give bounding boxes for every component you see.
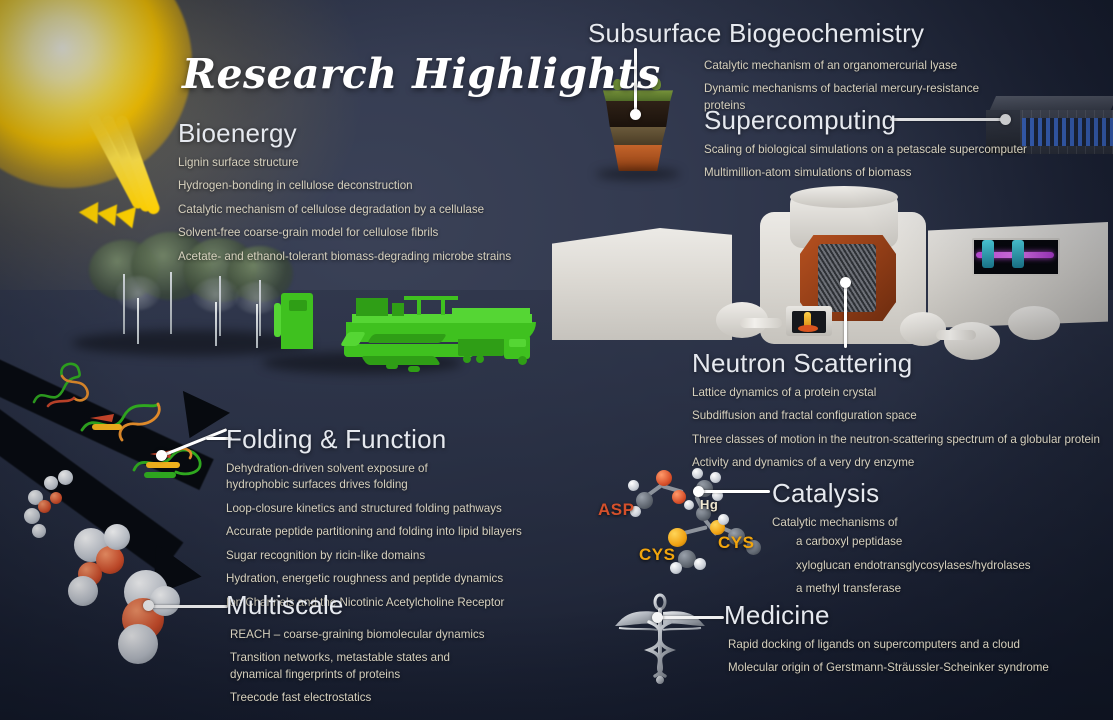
list-item: Lattice dynamics of a protein crystal bbox=[692, 385, 1102, 401]
cg-bead bbox=[58, 470, 73, 485]
hydrogen-atom bbox=[718, 514, 729, 525]
accelerator-magnet bbox=[1012, 240, 1024, 268]
list-item: Subdiffusion and fractal configuration s… bbox=[692, 408, 1102, 424]
connector-dot-multiscale bbox=[143, 600, 154, 611]
connector-catalysis bbox=[698, 490, 770, 493]
list-item: Three classes of motion in the neutron-s… bbox=[692, 432, 1102, 448]
truck-trailer bbox=[458, 338, 504, 356]
connector-multiscale bbox=[148, 605, 228, 608]
facility-pipe bbox=[740, 318, 782, 328]
list-item: Solvent-free coarse-grain model for cell… bbox=[178, 225, 538, 241]
cg-bead bbox=[24, 508, 40, 524]
cg-bead-large bbox=[150, 586, 180, 616]
cg-bead-large bbox=[118, 624, 158, 664]
medicine-list: Rapid docking of ligands on supercompute… bbox=[728, 637, 1054, 677]
gas-pump-display bbox=[289, 300, 307, 311]
connector-dot-medicine bbox=[652, 612, 663, 623]
connector-medicine bbox=[656, 616, 724, 619]
cys-left-label: CYS bbox=[639, 545, 675, 565]
facility-outbuilding bbox=[1008, 306, 1060, 340]
airplane-engine bbox=[386, 363, 398, 369]
list-item: Catalytic mechanism of cellulose degrada… bbox=[178, 202, 538, 218]
cargo-ship-funnel bbox=[392, 303, 404, 316]
connector-dot-catalysis bbox=[693, 486, 704, 497]
section-multiscale: Multiscale REACH – coarse-graining biomo… bbox=[226, 590, 546, 714]
list-item: Treecode fast electrostatics bbox=[230, 690, 546, 706]
protein-ribbon-folded bbox=[128, 440, 206, 490]
list-item: Hydrogen-bonding in cellulose deconstruc… bbox=[178, 178, 538, 194]
sun-icon bbox=[0, 0, 192, 188]
section-supercomputing: Supercomputing Scaling of biological sim… bbox=[704, 105, 1104, 189]
section-heading-multiscale: Multiscale bbox=[226, 590, 546, 621]
airplane-engine bbox=[408, 366, 420, 372]
connector-dot-neutron bbox=[840, 277, 851, 288]
list-item: Accurate peptide partitioning and foldin… bbox=[226, 524, 556, 540]
oxygen-atom bbox=[656, 470, 672, 486]
list-item: REACH – coarse-graining biomolecular dyn… bbox=[230, 627, 546, 643]
list-item: Catalytic mechanism of an organomercuria… bbox=[704, 58, 1008, 74]
section-heading-catalysis: Catalysis bbox=[772, 478, 1072, 509]
cg-bead bbox=[44, 476, 58, 490]
facility-west-hall bbox=[552, 228, 732, 340]
truck-window bbox=[509, 339, 526, 347]
multiscale-list: REACH – coarse-graining biomolecular dyn… bbox=[230, 627, 546, 707]
list-item: Activity and dynamics of a very dry enzy… bbox=[692, 455, 1102, 471]
section-heading-medicine: Medicine bbox=[724, 600, 1054, 631]
list-item: a carboxyl peptidase bbox=[796, 534, 1072, 550]
facility-pipe bbox=[936, 330, 976, 340]
accelerator-magnet bbox=[982, 240, 994, 268]
airplane-wing bbox=[367, 334, 447, 343]
research-highlights-poster: ASP Hg CYS CYS Research Highlights bbox=[0, 0, 1113, 720]
soil-core-shadow bbox=[596, 168, 680, 180]
catalysis-molecule bbox=[600, 466, 770, 576]
tree-bare bbox=[238, 276, 276, 348]
list-item: Rapid docking of ligands on supercompute… bbox=[728, 637, 1054, 653]
connector-neutron bbox=[844, 282, 847, 348]
caduceus-icon bbox=[611, 592, 709, 684]
facility-outbuilding bbox=[900, 312, 946, 346]
tree-bare bbox=[196, 272, 236, 346]
tree-bare bbox=[118, 268, 158, 344]
cys-right-label: CYS bbox=[718, 533, 754, 553]
cg-bead-medium bbox=[104, 524, 130, 550]
cg-bead bbox=[50, 492, 62, 504]
soil-layer-subsoil bbox=[610, 127, 666, 145]
truck-wheel bbox=[518, 356, 527, 365]
section-neutron: Neutron Scattering Lattice dynamics of a… bbox=[692, 348, 1102, 479]
section-heading-subsurface: Subsurface Biogeochemistry bbox=[588, 18, 1008, 49]
list-item: Scaling of biological simulations on a p… bbox=[704, 142, 1104, 158]
supercomputing-list: Scaling of biological simulations on a p… bbox=[704, 142, 1104, 182]
truck-trailer-top bbox=[458, 334, 504, 339]
hg-label: Hg bbox=[700, 497, 718, 512]
cg-bead bbox=[32, 524, 46, 538]
list-item: Sugar recognition by ricin-like domains bbox=[226, 548, 556, 564]
hydrogen-atom bbox=[694, 558, 706, 570]
folding-list: Dehydration-driven solvent exposure of h… bbox=[226, 461, 556, 611]
section-bioenergy: Bioenergy Lignin surface structure Hydro… bbox=[178, 118, 538, 272]
section-medicine: Medicine Rapid docking of ligands on sup… bbox=[724, 600, 1054, 684]
gas-pump-nozzle bbox=[274, 303, 281, 337]
cg-bead bbox=[38, 500, 51, 513]
connector-dot-folding bbox=[156, 450, 167, 461]
cargo-ship-crane-mast bbox=[441, 298, 445, 315]
section-heading-bioenergy: Bioenergy bbox=[178, 118, 538, 149]
list-item: Loop-closure kinetics and structured fol… bbox=[226, 501, 556, 517]
list-item: Hydration, energetic roughness and pepti… bbox=[226, 571, 556, 587]
catalysis-list: Catalytic mechanisms of a carboxyl pepti… bbox=[772, 515, 1072, 598]
list-item: a methyl transferase bbox=[796, 581, 1072, 597]
truck-wheel bbox=[463, 355, 471, 363]
cargo-ship-containers bbox=[452, 308, 530, 315]
hydrogen-atom bbox=[684, 500, 694, 510]
bioenergy-list: Lignin surface structure Hydrogen-bondin… bbox=[178, 155, 538, 265]
asp-label: ASP bbox=[598, 500, 634, 520]
list-item-lead: Catalytic mechanisms of bbox=[772, 515, 1072, 531]
instrument-sample-base bbox=[798, 325, 818, 332]
list-item: Dehydration-driven solvent exposure of h… bbox=[226, 461, 492, 494]
list-item: Lignin surface structure bbox=[178, 155, 538, 171]
section-heading-folding: Folding & Function bbox=[226, 424, 556, 455]
facility-drum-cap bbox=[790, 186, 898, 208]
section-heading-neutron: Neutron Scattering bbox=[692, 348, 1102, 379]
list-item: Molecular origin of Gerstmann-Sträussler… bbox=[728, 660, 1054, 676]
neutron-list: Lattice dynamics of a protein crystal Su… bbox=[692, 385, 1102, 472]
airplane-wing bbox=[361, 356, 441, 365]
truck-wheel bbox=[476, 355, 484, 363]
list-item: xyloglucan endotransglycosylases/hydrola… bbox=[796, 558, 1072, 574]
list-item: Acetate- and ethanol-tolerant biomass-de… bbox=[178, 249, 538, 265]
list-item: Multimillion-atom simulations of biomass bbox=[704, 165, 1104, 181]
cg-bead-medium bbox=[68, 576, 98, 606]
cargo-ship-crane-mast bbox=[417, 298, 421, 315]
section-heading-supercomputing: Supercomputing bbox=[704, 105, 1104, 136]
hydrogen-atom bbox=[628, 480, 639, 491]
section-catalysis: Catalysis Catalytic mechanisms of a carb… bbox=[772, 478, 1072, 605]
list-item: Transition networks, metastable states a… bbox=[230, 650, 492, 683]
cargo-ship-bridge bbox=[356, 298, 388, 316]
